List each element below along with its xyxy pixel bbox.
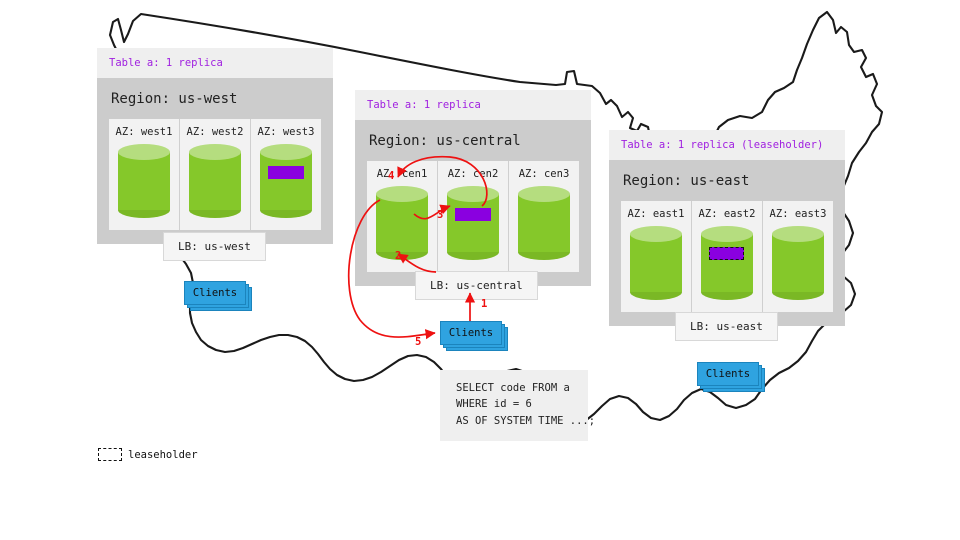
az-cell-west2[interactable]: AZ: west2 bbox=[179, 119, 250, 230]
arrow-number-4: 4 bbox=[388, 170, 394, 182]
region-body-us-west: Region: us-west AZ: west1 AZ: west2 bbox=[97, 78, 333, 244]
node-cylinder-west1[interactable] bbox=[118, 144, 170, 218]
az-cell-east2[interactable]: AZ: east2 bbox=[691, 201, 762, 312]
load-balancer-us-west[interactable]: LB: us-west bbox=[163, 232, 266, 261]
clients-label-us-central: Clients bbox=[440, 321, 502, 345]
cylinder-body bbox=[630, 234, 682, 292]
cylinder-top bbox=[447, 186, 499, 202]
clients-label-us-east: Clients bbox=[697, 362, 759, 386]
cylinder-top bbox=[630, 226, 682, 242]
leaseholder-replica-marker-east2 bbox=[709, 247, 744, 260]
region-panel-us-central: Table a: 1 replica Region: us-central AZ… bbox=[355, 90, 591, 286]
cylinder-top bbox=[701, 226, 753, 242]
az-cell-west1[interactable]: AZ: west1 bbox=[109, 119, 179, 230]
arrow-number-3: 3 bbox=[437, 209, 443, 221]
az-cell-cen2[interactable]: AZ: cen2 bbox=[437, 161, 508, 272]
az-label-cen2: AZ: cen2 bbox=[438, 168, 508, 180]
az-label-east3: AZ: east3 bbox=[763, 208, 833, 220]
node-cylinder-east2[interactable] bbox=[701, 226, 753, 300]
diagram-canvas: Table a: 1 replica Region: us-west AZ: w… bbox=[0, 0, 960, 540]
region-header-us-central: Table a: 1 replica bbox=[355, 90, 591, 120]
cylinder-top bbox=[189, 144, 241, 160]
cylinder-body bbox=[189, 152, 241, 210]
legend-label-leaseholder: leaseholder bbox=[128, 449, 198, 461]
cylinder-top bbox=[772, 226, 824, 242]
az-label-west1: AZ: west1 bbox=[109, 126, 179, 138]
cylinder-top bbox=[118, 144, 170, 160]
leaseholder-swatch-icon bbox=[98, 448, 122, 461]
cylinder-body bbox=[118, 152, 170, 210]
legend: leaseholder bbox=[98, 448, 198, 461]
arrow-number-1: 1 bbox=[481, 298, 487, 310]
az-cell-east1[interactable]: AZ: east1 bbox=[621, 201, 691, 312]
az-row-us-west: AZ: west1 AZ: west2 AZ bbox=[109, 119, 321, 230]
az-cell-west3[interactable]: AZ: west3 bbox=[250, 119, 321, 230]
region-panel-us-east: Table a: 1 replica (leaseholder) Region:… bbox=[609, 130, 845, 326]
region-header-us-west: Table a: 1 replica bbox=[97, 48, 333, 78]
replica-marker-cen2 bbox=[455, 208, 491, 221]
az-label-east1: AZ: east1 bbox=[621, 208, 691, 220]
az-cell-cen1[interactable]: AZ: cen1 bbox=[367, 161, 437, 272]
az-label-cen3: AZ: cen3 bbox=[509, 168, 579, 180]
clients-us-east[interactable]: Clients bbox=[697, 362, 759, 386]
node-cylinder-cen2[interactable] bbox=[447, 186, 499, 260]
arrow-number-5: 5 bbox=[415, 336, 421, 348]
region-panel-us-west: Table a: 1 replica Region: us-west AZ: w… bbox=[97, 48, 333, 244]
arrow-number-2: 2 bbox=[395, 250, 401, 262]
az-row-us-east: AZ: east1 AZ: east2 bbox=[621, 201, 833, 312]
load-balancer-us-central[interactable]: LB: us-central bbox=[415, 271, 538, 300]
cylinder-top bbox=[260, 144, 312, 160]
az-cell-cen3[interactable]: AZ: cen3 bbox=[508, 161, 579, 272]
cylinder-body bbox=[376, 194, 428, 252]
sql-query-box: SELECT code FROM a WHERE id = 6 AS OF SY… bbox=[440, 370, 588, 441]
cylinder-body bbox=[701, 234, 753, 292]
region-title-us-central: Region: us-central bbox=[367, 120, 579, 161]
region-title-us-west: Region: us-west bbox=[109, 78, 321, 119]
node-cylinder-east3[interactable] bbox=[772, 226, 824, 300]
cylinder-body bbox=[518, 194, 570, 252]
cylinder-top bbox=[518, 186, 570, 202]
replica-marker-west3 bbox=[268, 166, 304, 179]
load-balancer-us-east[interactable]: LB: us-east bbox=[675, 312, 778, 341]
node-cylinder-west2[interactable] bbox=[189, 144, 241, 218]
az-label-east2: AZ: east2 bbox=[692, 208, 762, 220]
node-cylinder-east1[interactable] bbox=[630, 226, 682, 300]
cylinder-top bbox=[376, 186, 428, 202]
az-label-west2: AZ: west2 bbox=[180, 126, 250, 138]
region-body-us-central: Region: us-central AZ: cen1 AZ: cen2 bbox=[355, 120, 591, 286]
region-title-us-east: Region: us-east bbox=[621, 160, 833, 201]
clients-label-us-west: Clients bbox=[184, 281, 246, 305]
az-cell-east3[interactable]: AZ: east3 bbox=[762, 201, 833, 312]
region-body-us-east: Region: us-east AZ: east1 AZ: east2 bbox=[609, 160, 845, 326]
node-cylinder-west3[interactable] bbox=[260, 144, 312, 218]
clients-us-central[interactable]: Clients bbox=[440, 321, 502, 345]
cylinder-body bbox=[260, 152, 312, 210]
az-label-west3: AZ: west3 bbox=[251, 126, 321, 138]
cylinder-body bbox=[447, 194, 499, 252]
node-cylinder-cen3[interactable] bbox=[518, 186, 570, 260]
cylinder-body bbox=[772, 234, 824, 292]
node-cylinder-cen1[interactable] bbox=[376, 186, 428, 260]
az-label-cen1: AZ: cen1 bbox=[367, 168, 437, 180]
region-header-us-east: Table a: 1 replica (leaseholder) bbox=[609, 130, 845, 160]
clients-us-west[interactable]: Clients bbox=[184, 281, 246, 305]
